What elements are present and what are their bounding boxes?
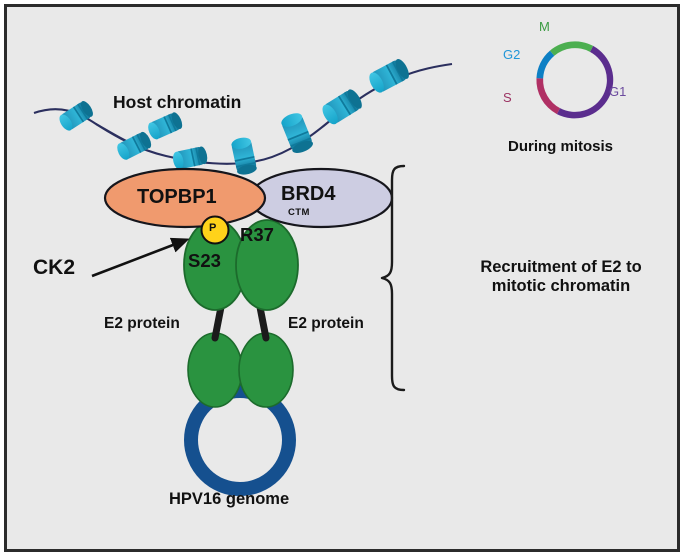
donut-slice-s (536, 78, 560, 114)
e2-protein-label-right: E2 protein (288, 315, 364, 333)
nucleosome (57, 99, 95, 133)
s23-residue-label: S23 (188, 250, 221, 271)
donut-label-m: M (539, 20, 550, 35)
donut-slice-g1 (557, 46, 613, 118)
topbp1-label: TOPBP1 (137, 186, 217, 209)
nucleosome (230, 136, 257, 176)
host-chromatin-label: Host chromatin (113, 92, 241, 112)
r37-residue-label: R37 (240, 224, 274, 245)
donut-slice-m (550, 41, 593, 55)
recruitment-annotation: Recruitment of E2 to mitotic chromatin (466, 258, 656, 296)
nucleosome (115, 130, 154, 162)
donut-slice-g2 (536, 51, 554, 79)
brd4-label: BRD4 (281, 183, 335, 206)
nucleosome (319, 87, 364, 127)
donut-label-s: S (503, 91, 512, 106)
ck2-label: CK2 (33, 256, 75, 280)
cell-cycle-donut-chart (536, 41, 613, 118)
nucleosome (146, 111, 185, 141)
nucleosome (172, 146, 209, 171)
ck2-arrow (92, 240, 186, 276)
brd4-ctm-sublabel: CTM (288, 208, 310, 219)
phospho-label: P (209, 222, 216, 235)
donut-label-g1: G1 (609, 85, 626, 100)
e2-protein-label-left: E2 protein (104, 315, 180, 333)
hpv16-genome-label: HPV16 genome (169, 490, 289, 509)
nucleosome (279, 111, 314, 156)
donut-chart-title: During mitosis (508, 138, 613, 155)
donut-label-g2: G2 (503, 48, 520, 63)
figure-canvas: Host chromatin TOPBP1 BRD4 CTM CK2 P S23… (0, 0, 688, 560)
